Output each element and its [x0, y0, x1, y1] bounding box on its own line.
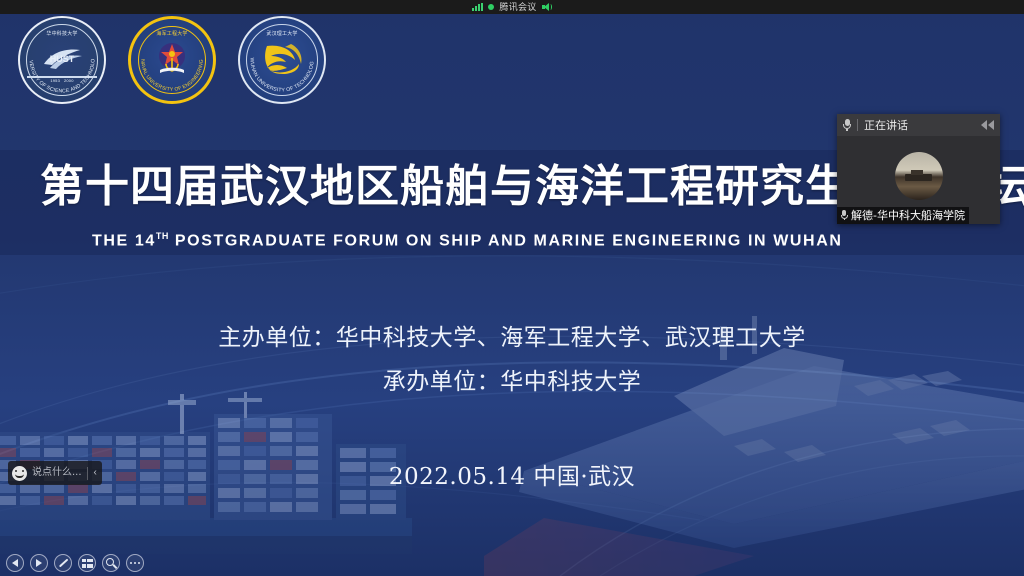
- logo-arc-text: WUHAN UNIVERSITY OF TECHNOLOGY: [240, 18, 324, 102]
- title-en-rest: POSTGRADUATE FORUM ON SHIP AND MARINE EN…: [169, 232, 843, 249]
- title-en-prefix: THE 14: [92, 232, 156, 249]
- triangle-right-icon: [36, 559, 42, 567]
- video-panel-body[interactable]: 解德-华中科大船海学院: [837, 136, 1000, 224]
- recording-status-dot: [488, 4, 494, 10]
- logo-arc-text: NAVAL UNIVERSITY OF ENGINEERING: [131, 19, 213, 101]
- svg-text:NAVAL UNIVERSITY OF ENGINEERIN: NAVAL UNIVERSITY OF ENGINEERING: [139, 59, 205, 93]
- ellipsis-icon: [130, 562, 140, 564]
- organizer-line: 承办单位：华中科技大学: [0, 362, 1024, 396]
- chat-collapse-button[interactable]: ‹: [93, 468, 98, 478]
- more-options-button[interactable]: [126, 554, 144, 572]
- grid-icon: [82, 559, 93, 568]
- presentation-toolbar: [6, 554, 144, 572]
- microphone-icon: [843, 119, 851, 131]
- title-en-superscript: TH: [156, 231, 169, 241]
- aircraft-carrier-watermark: [484, 256, 1024, 576]
- speaker-icon: [542, 3, 552, 11]
- pen-annotation-button[interactable]: [54, 554, 72, 572]
- divider: [857, 119, 858, 131]
- presentation-screen: 腾讯会议 华中科技大学 HUST 1953 2000 UNIVERSITY OF…: [0, 0, 1024, 576]
- app-name-label: 腾讯会议: [499, 3, 536, 12]
- pen-icon: [58, 559, 67, 568]
- video-panel-header: 正在讲话: [837, 114, 1000, 136]
- system-status-bar: 腾讯会议: [0, 0, 1024, 14]
- svg-text:UNIVERSITY OF SCIENCE AND TECH: UNIVERSITY OF SCIENCE AND TECHNOLOGY: [20, 18, 96, 95]
- slide-title-english: THE 14TH POSTGRADUATE FORUM ON SHIP AND …: [92, 231, 843, 250]
- huazhong-university-of-science-and-technology-logo: 华中科技大学 HUST 1953 2000 UNIVERSITY OF SCIE…: [18, 16, 106, 104]
- svg-text:WUHAN UNIVERSITY OF TECHNOLOGY: WUHAN UNIVERSITY OF TECHNOLOGY: [240, 18, 316, 94]
- speaker-video-panel[interactable]: 正在讲话 解德-华中科大船海学院: [837, 114, 1000, 224]
- slide-grid-button[interactable]: [78, 554, 96, 572]
- next-slide-button[interactable]: [30, 554, 48, 572]
- divider: [87, 467, 88, 480]
- naval-university-of-engineering-logo: 海军工程大学 NAVAL UNIVERSITY OF ENGINEERING: [128, 16, 216, 104]
- participant-video-thumbnail: [895, 152, 943, 200]
- wuhan-university-of-technology-logo: 武汉理工大学 WUHAN UNIVERSITY OF TECHNOLOGY: [238, 16, 326, 104]
- triangle-left-icon: [12, 559, 18, 567]
- double-chevron-right-icon[interactable]: [981, 120, 994, 130]
- university-logos: 华中科技大学 HUST 1953 2000 UNIVERSITY OF SCIE…: [18, 16, 326, 104]
- chat-input-placeholder[interactable]: 说点什么...: [32, 468, 82, 478]
- date-and-location: 2022.05.14 中国·武汉: [0, 457, 1024, 491]
- signal-bars-icon: [472, 3, 483, 11]
- host-organizations-line: 主办单位：华中科技大学、海军工程大学、武汉理工大学: [0, 318, 1024, 352]
- participant-name-label: 解德-华中科大船海学院: [851, 209, 965, 222]
- logo-arc-text: UNIVERSITY OF SCIENCE AND TECHNOLOGY: [20, 18, 104, 102]
- chat-input-bar[interactable]: 说点什么... ‹: [8, 461, 102, 485]
- participant-nameplate: 解德-华中科大船海学院: [837, 207, 969, 224]
- microphone-icon: [841, 210, 848, 220]
- magnifier-icon: [106, 558, 117, 569]
- smiley-face-icon[interactable]: [12, 466, 27, 481]
- speaking-status-label: 正在讲话: [864, 120, 908, 131]
- zoom-button[interactable]: [102, 554, 120, 572]
- previous-slide-button[interactable]: [6, 554, 24, 572]
